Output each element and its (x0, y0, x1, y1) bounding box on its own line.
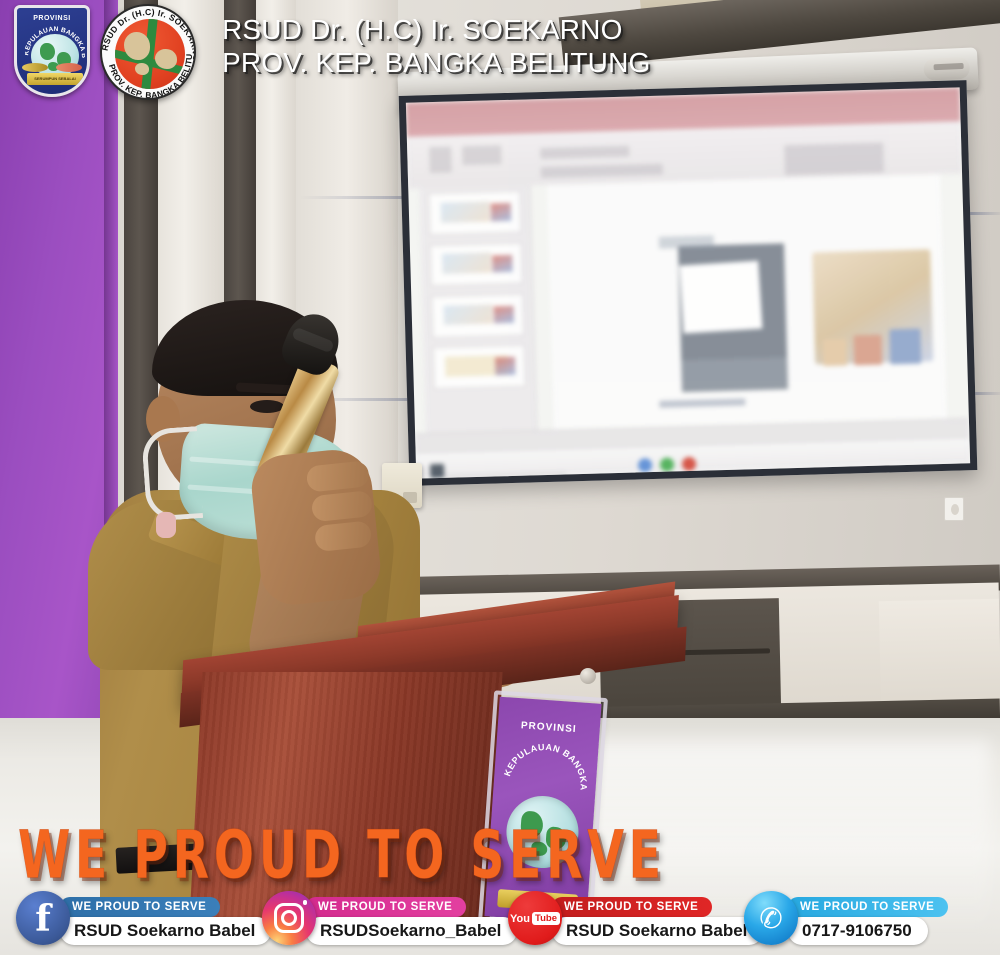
hospital-logo-disc (115, 19, 185, 89)
taskbar-icon-1[interactable] (637, 458, 651, 472)
taskbar-icon-2[interactable] (660, 457, 674, 471)
province-logo-wing-right (56, 63, 82, 72)
phone-number[interactable]: 0717-9106750 (788, 917, 928, 945)
youtube-wordmark: You Tube (513, 910, 557, 927)
ppt-tool-2 (462, 145, 501, 165)
tagline-we-proud-to-serve: WE PROUD TO SERVE (18, 823, 666, 889)
mask-ear-loop (141, 426, 203, 522)
ppt-heading-text (658, 235, 713, 249)
province-logo-ribbon-text: SERUMPUN SEBALAI (27, 73, 83, 85)
youtube-you-text: You (510, 913, 530, 925)
lectern-fixing-knob (580, 668, 596, 684)
phone-icon[interactable]: ✆ (744, 891, 798, 945)
hospital-logo: RSUD Dr. (H.C) Ir. SOEKARNO PROV. KEP. B… (100, 4, 196, 100)
hospital-logo-island-small (135, 63, 149, 75)
finger (311, 490, 373, 522)
instagram-dot (303, 900, 308, 905)
wall-power-outlet (944, 497, 964, 521)
ppt-chip-1 (889, 329, 921, 365)
mask-strap-clip (156, 512, 176, 538)
youtube-badge-label: WE PROUD TO SERVE (552, 897, 712, 917)
phone-badge-label: WE PROUD TO SERVE (788, 897, 948, 917)
province-logo-ribbon: SERUMPUN SEBALAI (27, 73, 83, 85)
ppt-tool-1 (429, 147, 452, 174)
instagram-badge-label: WE PROUD TO SERVE (306, 897, 466, 917)
youtube-tube-text: Tube (532, 912, 560, 925)
youtube-handle[interactable]: RSUD Soekarno Babel (552, 917, 763, 945)
page-title: RSUD Dr. (H.C) Ir. SOEKARNO PROV. KEP. B… (222, 13, 650, 79)
ppt-chip-3 (823, 338, 847, 366)
facebook-glyph: f (16, 891, 70, 945)
facebook-handle[interactable]: RSUD Soekarno Babel (60, 917, 271, 945)
eye (250, 400, 284, 413)
social-media-bar: f WE PROUD TO SERVE RSUD Soekarno Babel … (0, 883, 1000, 955)
instagram-icon[interactable] (262, 891, 316, 945)
province-logo: PROVINSI KEPULAUAN BANGKA BELITUNG SERUM… (14, 5, 90, 97)
phone-glyph: ✆ (741, 888, 802, 949)
ppt-caption-block (681, 357, 788, 392)
ppt-chip-2 (854, 335, 882, 366)
hospital-logo-island-bangka (124, 32, 150, 60)
header-bar: PROVINSI KEPULAUAN BANGKA BELITUNG SERUM… (0, 0, 1000, 104)
province-logo-top-text: PROVINSI (17, 15, 87, 22)
poster-root: PROVINSI KEPULAUAN BANGKA BELITUNG PROVI… (0, 0, 1000, 955)
ppt-tool-5 (784, 142, 885, 175)
province-logo-wing-left (22, 63, 48, 72)
province-island-1 (40, 43, 55, 60)
instagram-lens (281, 910, 297, 926)
finger (314, 520, 372, 552)
photo-scene: PROVINSI KEPULAUAN BANGKA BELITUNG (0, 0, 1000, 955)
facebook-icon[interactable]: f (16, 891, 70, 945)
ppt-footer-text (659, 398, 746, 408)
youtube-icon[interactable]: You Tube (508, 891, 562, 945)
taskbar-icon-3[interactable] (682, 456, 696, 470)
finger (306, 460, 370, 492)
instagram-handle[interactable]: RSUDSoekarno_Babel (306, 917, 517, 945)
ppt-card-white-area (680, 261, 763, 334)
ppt-thumbnail (428, 191, 521, 235)
ppt-active-slide (547, 174, 947, 433)
hand-holding-microphone (248, 446, 383, 608)
ppt-thumbnail (430, 242, 523, 286)
hospital-logo-island-belitung (155, 49, 177, 69)
facebook-badge-label: WE PROUD TO SERVE (60, 897, 220, 917)
